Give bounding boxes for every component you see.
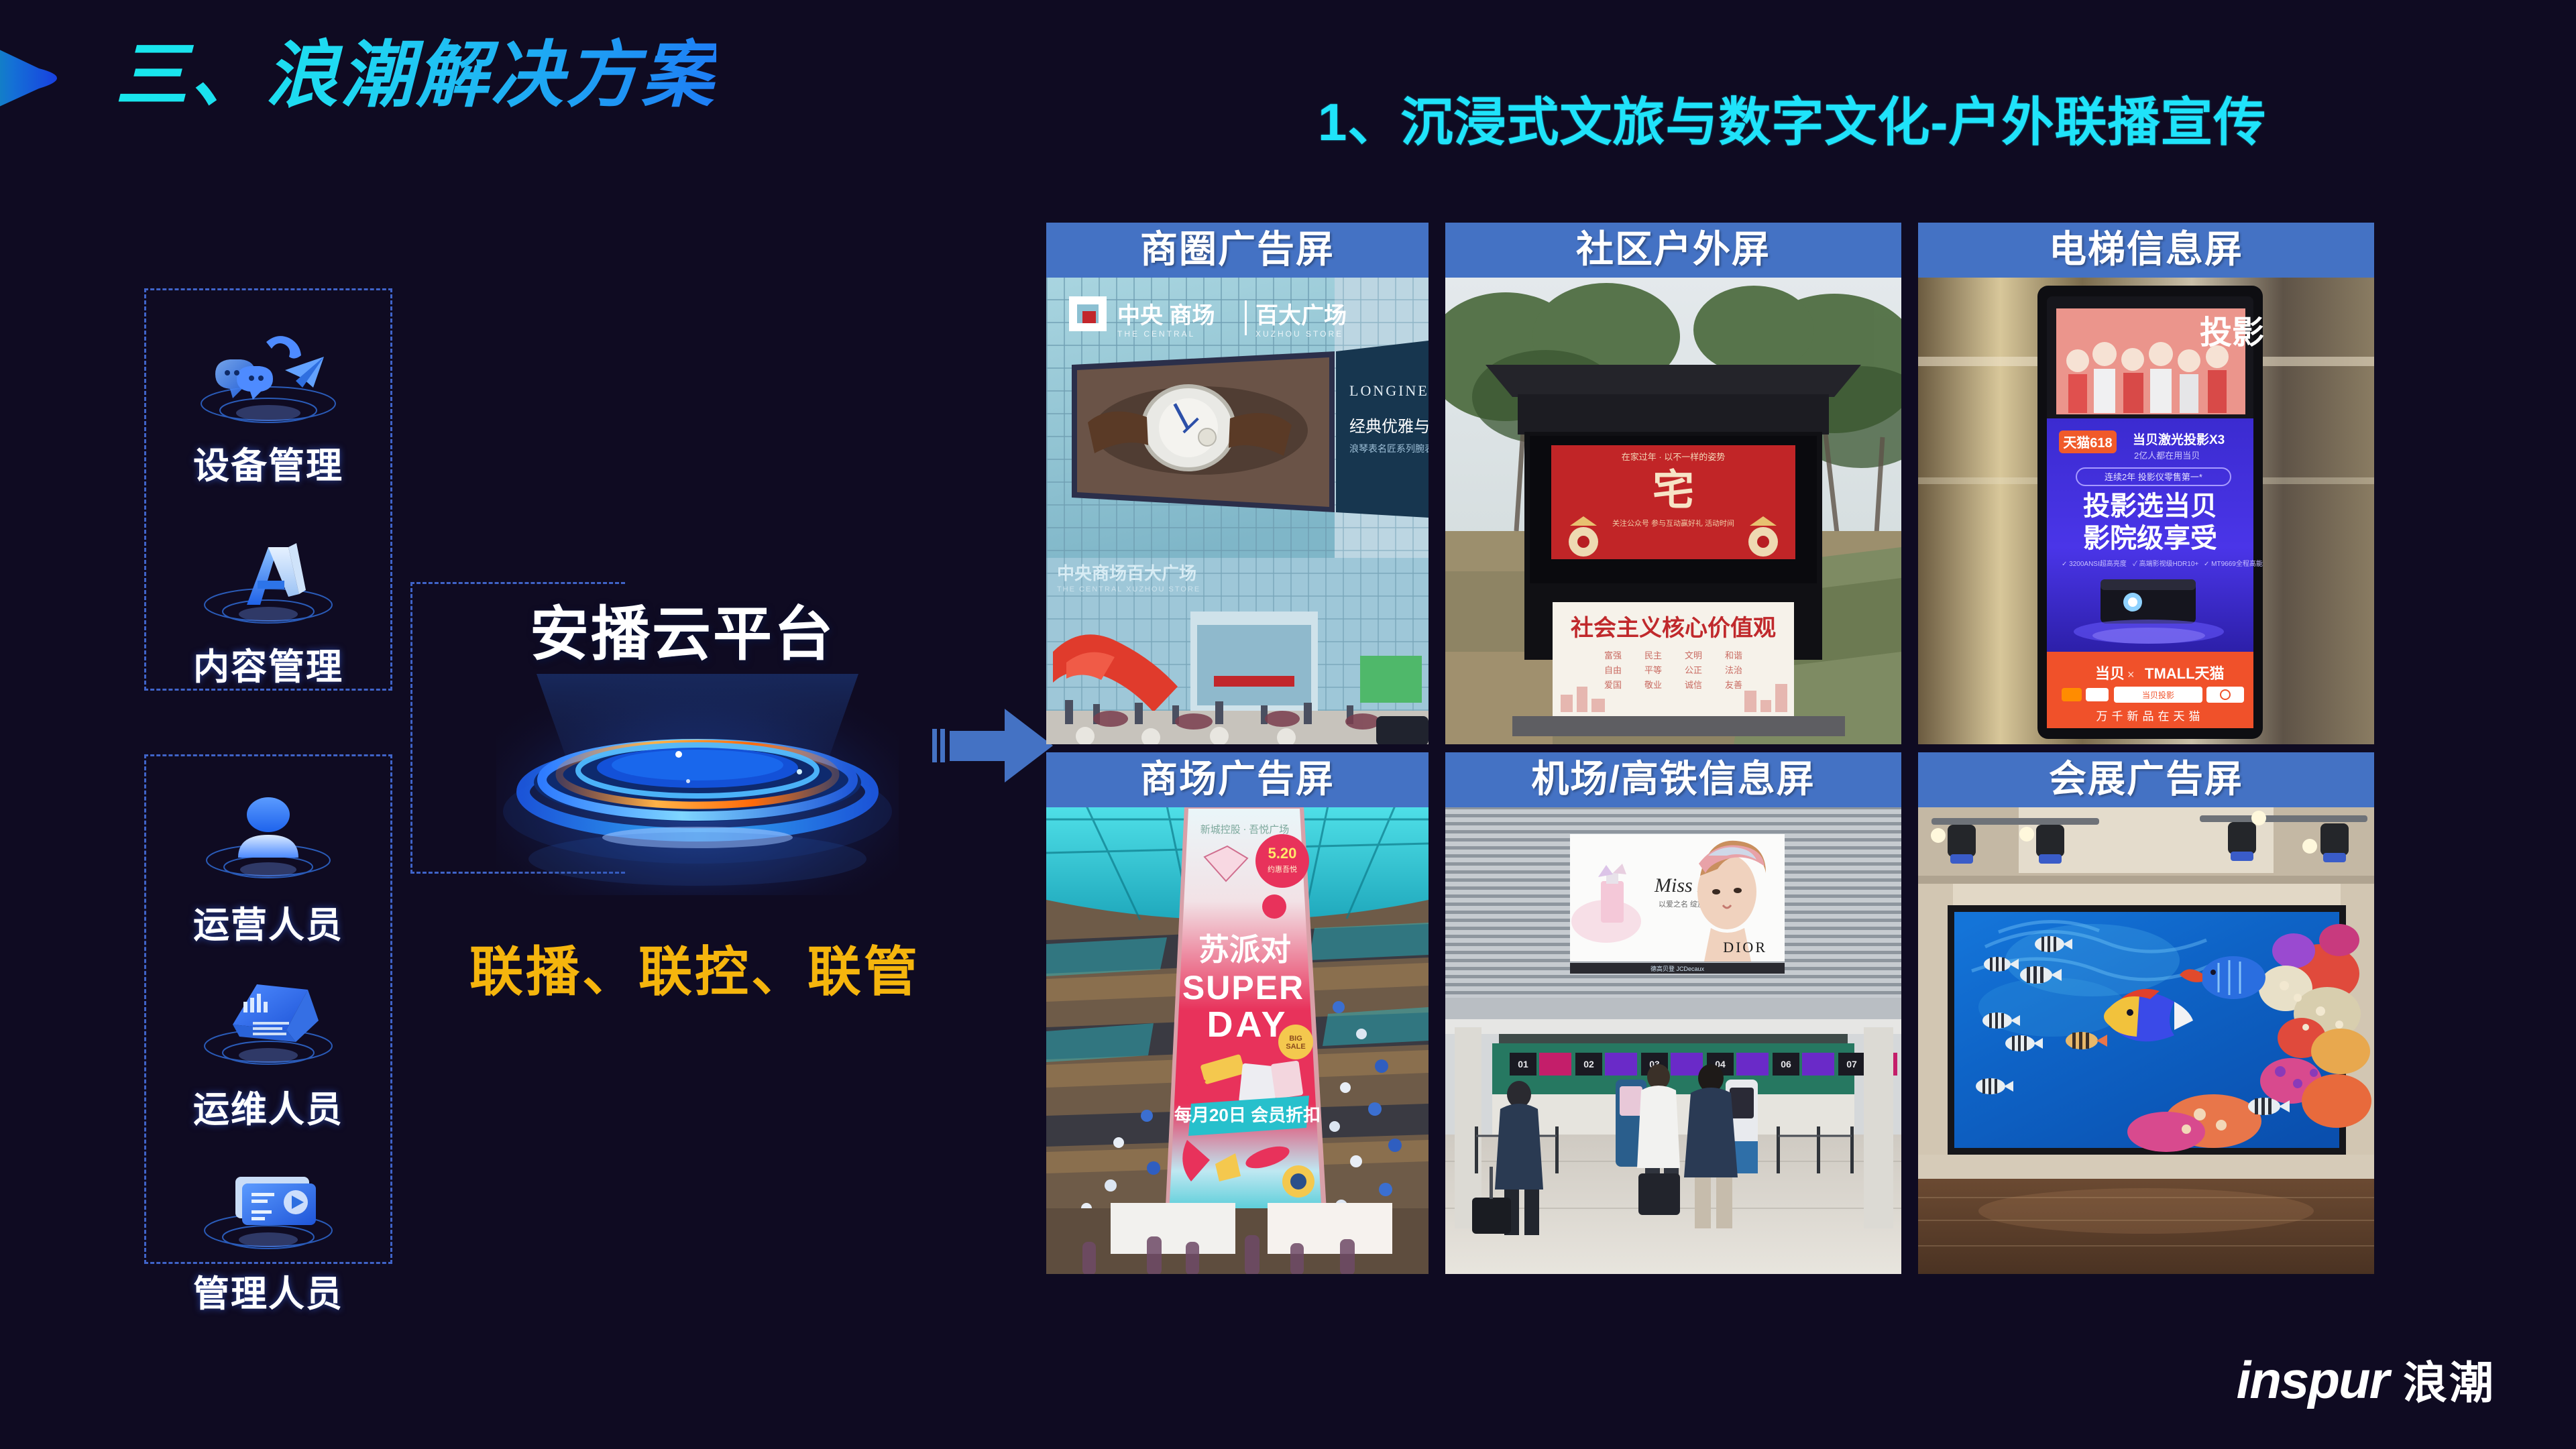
screens-grid: 商圈广告屏 xyxy=(1046,223,2495,1275)
svg-text:在家过年 · 以不一样的姿势: 在家过年 · 以不一样的姿势 xyxy=(1622,452,1726,462)
svg-text:DIOR: DIOR xyxy=(1723,939,1767,955)
svg-text:每月20日 会员折扣: 每月20日 会员折扣 xyxy=(1174,1105,1321,1125)
svg-text:SUPER: SUPER xyxy=(1182,969,1304,1006)
left-item-admin-staff[interactable]: 管理人员 xyxy=(144,1157,392,1317)
svg-text:当贝: 当贝 xyxy=(2095,665,2125,682)
svg-text:关注公众号 参与互动赢好礼 活动时间: 关注公众号 参与互动赢好礼 活动时间 xyxy=(1612,518,1734,528)
svg-text:THE CENTRAL XUZHOU STORE: THE CENTRAL XUZHOU STORE xyxy=(1057,585,1200,593)
tagline-text: 联播、联控、联管 xyxy=(469,929,920,1006)
svg-text:百大广场: 百大广场 xyxy=(1127,563,1196,583)
left-item-label: 内容管理 xyxy=(144,637,392,690)
left-item-label: 运营人员 xyxy=(144,895,392,948)
svg-text:和谐: 和谐 xyxy=(1725,650,1742,660)
glowing-platform-disc-icon xyxy=(456,674,939,895)
svg-text:LONGINES: LONGINES xyxy=(1349,382,1429,399)
chevron-accent-icon xyxy=(0,27,74,127)
shopping-district-led-billboard-photo: 中央 商场 THE CENTRAL 百大广场 XUZHOU STORE xyxy=(1046,278,1429,744)
card-title: 商场广告屏 xyxy=(1046,752,1429,807)
svg-text:友善: 友善 xyxy=(1725,680,1742,690)
svg-text:DAY: DAY xyxy=(1207,1004,1288,1045)
svg-text:投影选当贝: 投影选当贝 xyxy=(2083,491,2217,521)
left-item-label: 运维人员 xyxy=(144,1080,392,1133)
card-exhibition-ad[interactable]: 会展广告屏 xyxy=(1918,752,2374,1275)
svg-text:✓ 高端影视级HDR10+: ✓ 高端影视级HDR10+ xyxy=(2133,559,2198,568)
svg-text:中央商场: 中央商场 xyxy=(1057,563,1127,583)
svg-text:百大广场: 百大广场 xyxy=(1255,303,1347,329)
logo-chinese: 浪潮 xyxy=(2403,1347,2496,1411)
left-item-maintenance-staff[interactable]: 运维人员 xyxy=(144,972,392,1133)
svg-text:诚信: 诚信 xyxy=(1685,680,1702,690)
slide-root: 三、浪潮解决方案 1、沉浸式文旅与数字文化-户外联播宣传 xyxy=(0,0,2576,1449)
letter-a-3d-icon xyxy=(144,530,392,630)
exhibition-led-wall-photo xyxy=(1918,807,2374,1274)
card-title: 社区户外屏 xyxy=(1445,223,1901,278)
left-item-operations-staff[interactable]: 运营人员 xyxy=(144,788,392,948)
svg-text:✓ MT9669全程高能: ✓ MT9669全程高能 xyxy=(2204,559,2263,568)
card-mall-ad[interactable]: 商场广告屏 xyxy=(1046,752,1429,1275)
svg-text:民主: 民主 xyxy=(1644,650,1662,660)
elevator-info-screen-photo: 投影 天猫618 当贝激光投影X3 2亿人都在用当贝 xyxy=(1918,278,2374,744)
card-title: 商圈广告屏 xyxy=(1046,223,1429,278)
right-arrow-icon xyxy=(932,701,1056,791)
platform-title: 安播云平台 xyxy=(530,587,835,672)
svg-text:XUZHOU STORE: XUZHOU STORE xyxy=(1255,329,1343,339)
page-subtitle: 1、沉浸式文旅与数字文化-户外联播宣传 xyxy=(1318,80,2266,156)
connector-vertical xyxy=(410,582,412,874)
svg-text:万千新品在天猫: 万千新品在天猫 xyxy=(2096,710,2204,723)
svg-text:07: 07 xyxy=(1846,1059,1857,1069)
svg-text:02: 02 xyxy=(1583,1059,1594,1069)
user-avatar-icon xyxy=(144,788,392,888)
svg-text:影院级享受: 影院级享受 xyxy=(2083,524,2217,553)
card-airport-info[interactable]: 机场/高铁信息屏 xyxy=(1445,752,1901,1275)
svg-text:×: × xyxy=(2127,668,2135,681)
svg-text:✓ 3200ANSI超高亮度: ✓ 3200ANSI超高亮度 xyxy=(2062,559,2127,568)
svg-text:文明: 文明 xyxy=(1685,650,1702,660)
page-title: 三、浪潮解决方案 xyxy=(115,32,716,117)
card-shopping-district[interactable]: 商圈广告屏 xyxy=(1046,223,1429,746)
svg-text:富强: 富强 xyxy=(1604,650,1622,660)
laptop-dashboard-icon xyxy=(144,972,392,1073)
mall-atrium-led-photo: 新城控股 · 吾悦广场 5.20 约惠吾悦 苏派对 SUPER DAY BIG … xyxy=(1046,807,1429,1274)
svg-text:BIG: BIG xyxy=(1289,1035,1302,1043)
svg-text:新城控股 · 吾悦广场: 新城控股 · 吾悦广场 xyxy=(1200,824,1290,835)
svg-text:自由: 自由 xyxy=(1604,665,1622,675)
svg-text:投影: 投影 xyxy=(2200,315,2264,351)
svg-text:连续2年 投影仪零售第一*: 连续2年 投影仪零售第一* xyxy=(2105,472,2202,482)
media-cards-icon xyxy=(144,1157,392,1257)
svg-text:平等: 平等 xyxy=(1644,665,1662,675)
chat-phone-mail-icon xyxy=(144,329,392,429)
card-title: 电梯信息屏 xyxy=(1918,223,2374,278)
logo-wordmark: inspur xyxy=(2237,1350,2388,1411)
svg-text:THE CENTRAL: THE CENTRAL xyxy=(1117,329,1195,339)
svg-text:社会主义核心价值观: 社会主义核心价值观 xyxy=(1571,616,1776,641)
left-item-device-management[interactable]: 设备管理 xyxy=(144,329,392,489)
svg-text:TMALL天猫: TMALL天猫 xyxy=(2145,665,2225,682)
card-elevator-info[interactable]: 电梯信息屏 xyxy=(1918,223,2374,746)
svg-text:浪琴表名匠系列腕表: 浪琴表名匠系列腕表 xyxy=(1349,443,1429,454)
left-item-label: 管理人员 xyxy=(144,1264,392,1317)
card-community-outdoor[interactable]: 社区户外屏 xyxy=(1445,223,1901,746)
svg-text:敬业: 敬业 xyxy=(1644,680,1662,690)
svg-text:苏派对: 苏派对 xyxy=(1198,932,1291,967)
svg-text:宅: 宅 xyxy=(1653,467,1694,514)
svg-text:当贝投影: 当贝投影 xyxy=(2142,690,2174,700)
left-item-label: 设备管理 xyxy=(144,436,392,489)
svg-text:当贝激光投影X3: 当贝激光投影X3 xyxy=(2133,432,2225,447)
svg-text:德高贝登 JCDecaux: 德高贝登 JCDecaux xyxy=(1650,965,1705,972)
svg-text:法治: 法治 xyxy=(1725,665,1742,675)
svg-text:5.20: 5.20 xyxy=(1268,845,1297,862)
svg-text:2亿人都在用当贝: 2亿人都在用当贝 xyxy=(2134,451,2200,461)
left-item-content-management[interactable]: 内容管理 xyxy=(144,530,392,690)
svg-text:中央 商场: 中央 商场 xyxy=(1117,303,1215,329)
svg-text:天猫618: 天猫618 xyxy=(2063,435,2112,451)
svg-text:约惠吾悦: 约惠吾悦 xyxy=(1268,864,1297,874)
card-title: 会展广告屏 xyxy=(1918,752,2374,807)
svg-text:06: 06 xyxy=(1781,1059,1791,1069)
airport-terminal-photo: Miss Dior 以爱之名 绽放女性之美 DIOR 德高贝登 JCDecaux xyxy=(1445,807,1901,1274)
inspur-logo: inspur 浪潮 xyxy=(2237,1347,2496,1411)
connector-upper xyxy=(410,582,625,584)
svg-text:爱国: 爱国 xyxy=(1604,680,1622,690)
card-title: 机场/高铁信息屏 xyxy=(1445,752,1901,807)
svg-text:公正: 公正 xyxy=(1685,665,1702,675)
svg-text:01: 01 xyxy=(1518,1059,1528,1069)
community-outdoor-kiosk-photo: 宅 在家过年 · 以不一样的姿势 关注公众号 参与互动赢好礼 活动时间 xyxy=(1445,278,1901,744)
svg-text:SALE: SALE xyxy=(1286,1043,1305,1051)
svg-text:经典优雅与卓越工艺: 经典优雅与卓越工艺 xyxy=(1349,418,1429,436)
